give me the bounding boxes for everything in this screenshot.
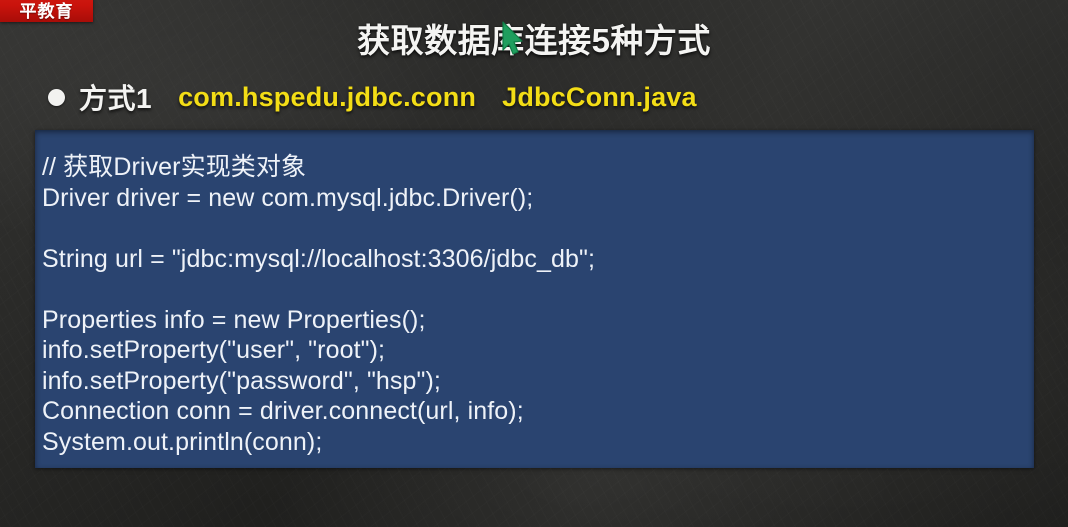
code-line: Driver driver = new com.mysql.jdbc.Drive… bbox=[42, 183, 1034, 214]
code-line: System.out.println(conn); bbox=[42, 427, 1034, 458]
code-line: info.setProperty("user", "root"); bbox=[42, 335, 1034, 366]
bullet-icon bbox=[48, 89, 65, 106]
subtitle-label: 方式1 bbox=[79, 77, 152, 117]
code-line-blank bbox=[42, 274, 1034, 305]
subtitle-row: 方式1 com.hspedu.jdbc.conn JdbcConn.java bbox=[48, 78, 697, 116]
code-line: String url = "jdbc:mysql://localhost:330… bbox=[42, 244, 1034, 275]
code-line: // 获取Driver实现类对象 bbox=[42, 152, 1034, 183]
code-line-blank bbox=[42, 213, 1034, 244]
page-title: 获取数据库连接5种方式 bbox=[0, 14, 1068, 62]
code-line: Properties info = new Properties(); bbox=[42, 305, 1034, 336]
code-line: Connection conn = driver.connect(url, in… bbox=[42, 396, 1034, 427]
code-block: // 获取Driver实现类对象 Driver driver = new com… bbox=[35, 130, 1034, 468]
subtitle-file-name: JdbcConn.java bbox=[502, 82, 697, 113]
subtitle-package-path: com.hspedu.jdbc.conn bbox=[178, 82, 476, 113]
code-line: info.setProperty("password", "hsp"); bbox=[42, 366, 1034, 397]
slide-root: 平教育 获取数据库连接5种方式 方式1 com.hspedu.jdbc.conn… bbox=[0, 0, 1068, 527]
